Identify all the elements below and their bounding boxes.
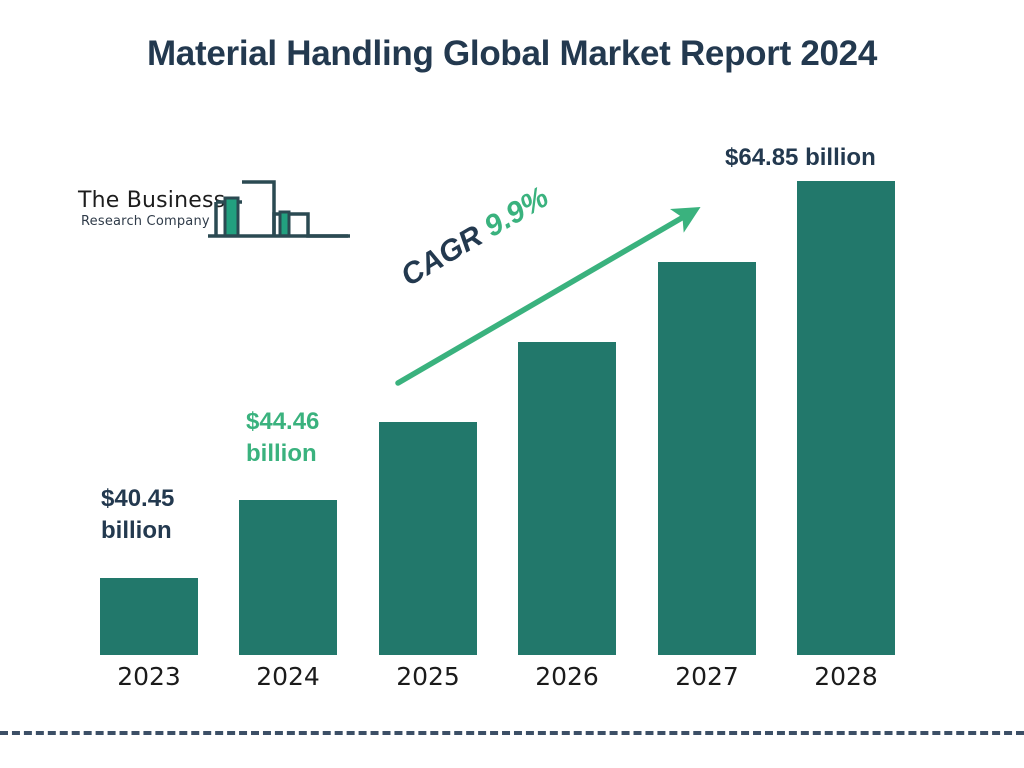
value-label-2023-amount: $40.45 — [101, 483, 174, 515]
x-tick-2024: 2024 — [228, 662, 348, 691]
value-label-2024-unit: billion — [246, 438, 319, 470]
bar-2028 — [797, 181, 895, 655]
x-tick-2027: 2027 — [647, 662, 767, 691]
x-tick-2028: 2028 — [786, 662, 906, 691]
footer-divider — [0, 731, 1024, 735]
x-tick-2023: 2023 — [89, 662, 209, 691]
value-label-2028: $64.85 billion — [725, 142, 876, 174]
value-label-2024-amount: $44.46 — [246, 406, 319, 438]
value-label-2023: $40.45 billion — [101, 483, 174, 548]
bar-2023 — [100, 578, 198, 655]
bar-2024 — [239, 500, 337, 655]
bar-2025 — [379, 422, 477, 655]
growth-arrow-icon — [380, 190, 720, 400]
x-tick-2025: 2025 — [368, 662, 488, 691]
value-label-2023-unit: billion — [101, 515, 174, 547]
bar-chart: 2023 2024 2025 2026 2027 2028 $40.45 bil… — [0, 0, 1024, 768]
value-label-2024: $44.46 billion — [246, 406, 319, 471]
chart-page: Material Handling Global Market Report 2… — [0, 0, 1024, 768]
x-tick-2026: 2026 — [507, 662, 627, 691]
